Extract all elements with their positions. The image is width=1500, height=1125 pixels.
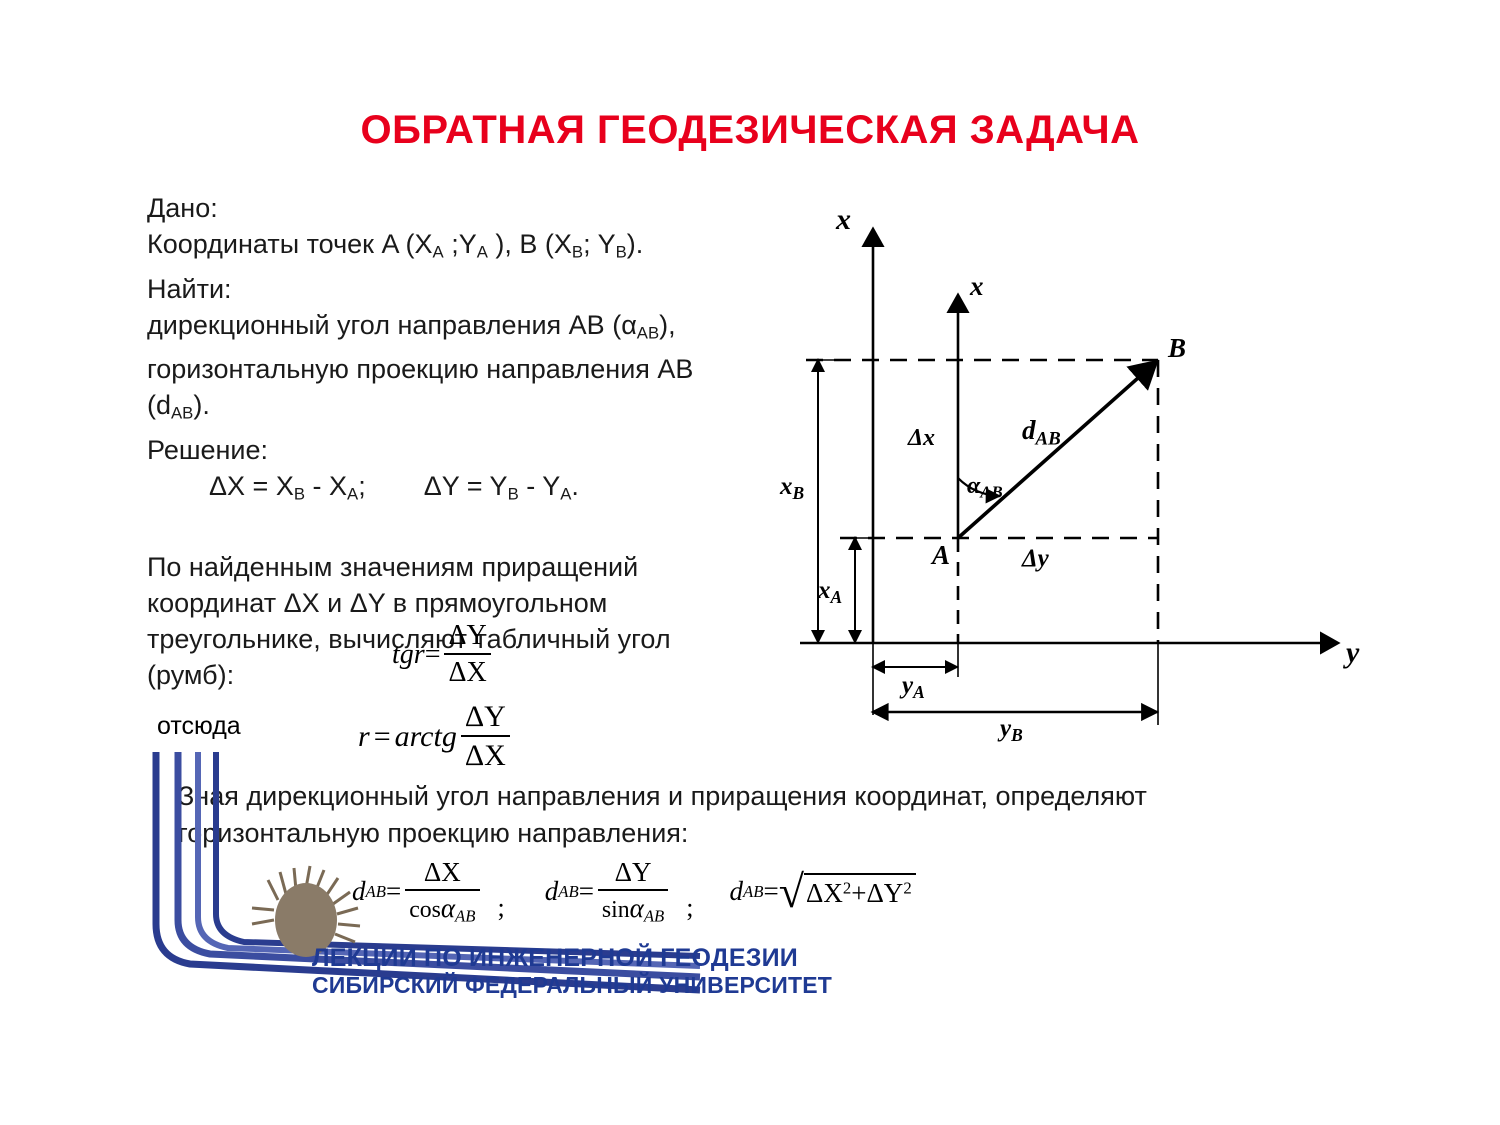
logo-line-university: СИБИРСКИЙ ФЕДЕРАЛЬНЫЙ УНИВЕРСИТЕТ: [312, 974, 832, 997]
formula-r-lhs: r: [358, 720, 370, 754]
delta-y-label: Δy: [1022, 545, 1049, 573]
formula-tgr-equals: =: [425, 639, 441, 671]
sqrt-exp-a: 2: [843, 879, 851, 898]
x-b-dimension-label: xB: [780, 473, 804, 504]
axis-y-label: y: [1346, 636, 1359, 670]
point-a-label: A: [932, 540, 950, 571]
x-a-dimension-label: xA: [818, 577, 842, 608]
find-item-dab: (dAB).: [147, 387, 807, 432]
distance-ab-label: dAB: [1022, 415, 1061, 450]
formula-tangent-rumb: tgr = ΔY ΔX: [392, 620, 495, 689]
formula-tgr-lhs: tgr: [392, 639, 425, 671]
increment-equations: ΔX = XB - XA;ΔY = YB - YA.: [147, 468, 807, 513]
given-label: Дано:: [147, 190, 807, 226]
sqrt-exp-b: 2: [903, 879, 911, 898]
otsyuda-label: отсюда: [157, 712, 241, 741]
find-item-horizontal-projection: горизонтальную проекцию направления АВ: [147, 351, 807, 387]
local-x-axis-label: x: [970, 271, 984, 302]
axis-x-label: x: [836, 203, 851, 237]
formula-r-equals: =: [374, 720, 391, 754]
paragraph-rumb-line1: По найденным значениям приращений: [147, 549, 807, 585]
formula-r-arctg: arctg: [395, 720, 457, 754]
formula-r-numerator: ΔY: [461, 700, 510, 735]
angle-alpha-ab-label: αAB: [967, 473, 1003, 503]
sqrt-term-dy: ΔY: [866, 878, 903, 908]
lecture-text-column: Дано: Координаты точек A (XA ;YA ), B (X…: [147, 190, 807, 693]
given-coordinates-line: Координаты точек A (XA ;YA ), B (XB; YB)…: [147, 226, 807, 271]
slide-canvas: ОБРАТНАЯ ГЕОДЕЗИЧЕСКАЯ ЗАДАЧА Дано: Коор…: [0, 0, 1500, 1125]
find-label: Найти:: [147, 271, 807, 307]
solution-label: Решение:: [147, 432, 807, 468]
paragraph-rumb-line2: координат ΔX и ΔY в прямоугольном: [147, 585, 807, 621]
y-a-dimension-label: yA: [902, 672, 925, 703]
logo-line-lectures: ЛЕКЦИИ ПО ИНЖЕНЕРНОЙ ГЕОДЕЗИИ: [312, 946, 832, 971]
find-item-direction-angle: дирекционный угол направления АВ (αAB),: [147, 307, 807, 352]
geodesy-diagram: x y x A B dAB αAB Δx Δy xB xA yA yB: [760, 185, 1380, 745]
point-b-label: B: [1168, 333, 1186, 364]
y-b-dimension-label: yB: [1000, 715, 1023, 746]
page-title: ОБРАТНАЯ ГЕОДЕЗИЧЕСКАЯ ЗАДАЧА: [0, 108, 1500, 153]
formula-tgr-fraction: ΔY ΔX: [444, 620, 490, 689]
delta-x-label: Δx: [908, 425, 935, 452]
formula-tgr-numerator: ΔY: [444, 620, 490, 653]
logo-text-block: ЛЕКЦИИ ПО ИНЖЕНЕРНОЙ ГЕОДЕЗИИ СИБИРСКИЙ …: [312, 946, 832, 997]
sqrt-plus: +: [851, 878, 866, 908]
formula-tgr-denominator: ΔX: [444, 653, 490, 689]
